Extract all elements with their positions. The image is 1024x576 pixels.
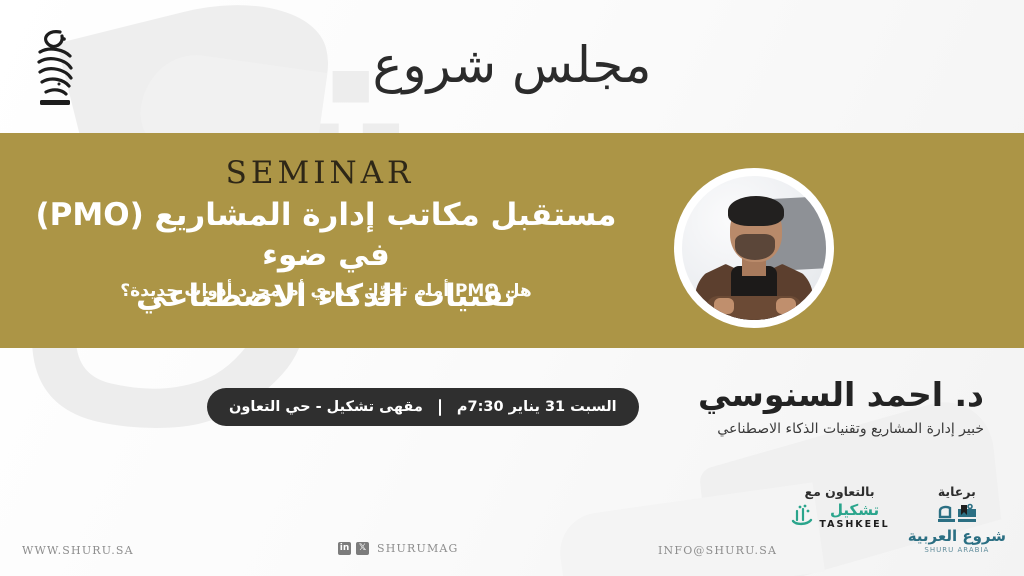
seminar-tagline: هل PMO أمام تحوّل جذري أم مجرد أدوات جدي… (12, 281, 640, 301)
shuru-calligraphy-logo-icon (30, 22, 80, 110)
event-details-pill: السبت 31 يناير 7:30م مقهى تشكيل - حي الت… (207, 388, 639, 426)
portrait-beard (735, 234, 775, 260)
seminar-title-line-1: مستقبل مكاتب إدارة المشاريع (PMO) في ضوء (12, 195, 640, 276)
event-venue: مقهى تشكيل - حي التعاون (229, 399, 423, 415)
seminar-band: SEMINAR مستقبل مكاتب إدارة المشاريع (PMO… (0, 133, 1024, 348)
sponsor-tashkeel: بالتعاون مع تشكيل TASHKEEL (789, 484, 889, 530)
sponsor-label-in-cooperation: بالتعاون مع (789, 484, 889, 499)
footer-email[interactable]: INFO@SHURU.SA (658, 544, 777, 557)
footer-website[interactable]: WWW.SHURU.SA (22, 544, 134, 557)
page-title: مجلس شروع (0, 34, 1024, 97)
speaker-role: خبير إدارة المشاريع وتقنيات الذكاء الاصط… (698, 421, 984, 437)
footer-social: in 𝕏 SHURUMAG (338, 542, 459, 555)
seminar-eyebrow: SEMINAR (0, 155, 640, 191)
portrait-hand-right (776, 298, 796, 314)
footer: WWW.SHURU.SA in 𝕏 SHURUMAG INFO@SHURU.SA (0, 532, 1024, 576)
speaker-name: د. احمد السنوسي (698, 376, 984, 414)
book-bookmark-icon (934, 502, 980, 526)
sponsor-tashkeel-latin: TASHKEEL (819, 519, 889, 530)
footer-social-handle: SHURUMAG (377, 542, 459, 555)
event-datetime: السبت 31 يناير 7:30م (457, 399, 617, 415)
x-twitter-icon[interactable]: 𝕏 (356, 542, 369, 555)
pill-separator (439, 399, 441, 416)
speaker-portrait (678, 172, 830, 324)
tashkeel-mark-icon (789, 503, 815, 529)
linkedin-icon[interactable]: in (338, 542, 351, 555)
portrait-hand-left (714, 298, 734, 314)
seminar-poster: ش مجلس شروع SEMINAR مستقبل مكاتب إدارة ا (0, 0, 1024, 576)
portrait-hair (728, 196, 784, 226)
speaker-block: د. احمد السنوسي خبير إدارة المشاريع وتقن… (698, 376, 984, 437)
sponsor-tashkeel-name: تشكيل (819, 502, 889, 519)
sponsor-label-presented-by: برعاية (908, 484, 1006, 499)
